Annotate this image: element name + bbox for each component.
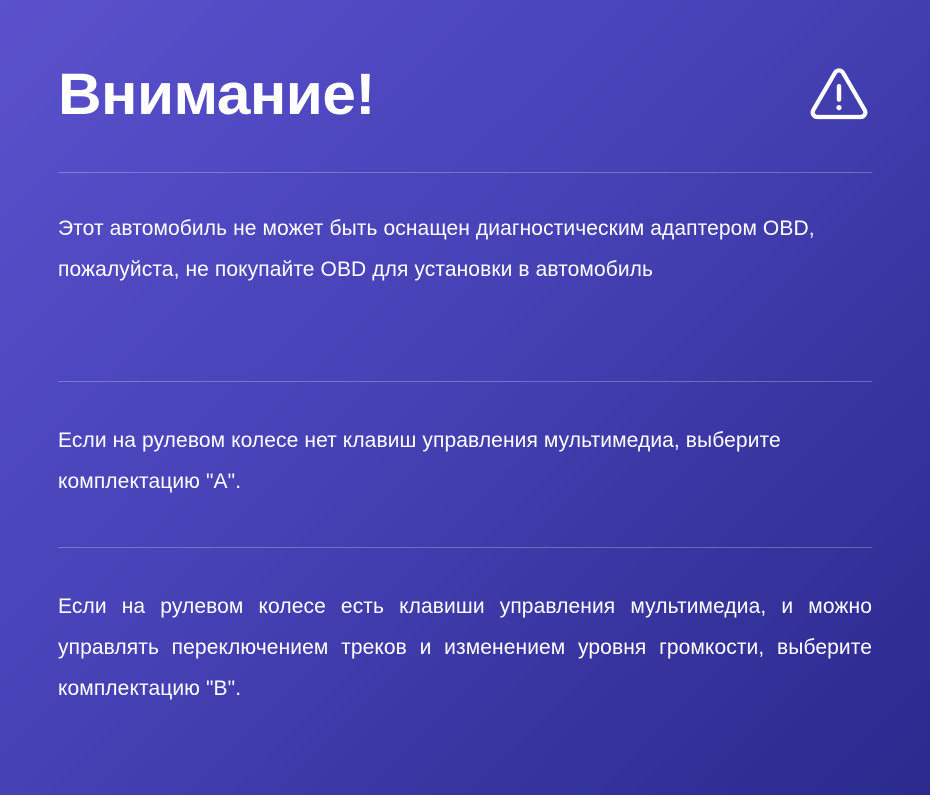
warning-triangle-icon — [808, 64, 870, 126]
notice-text-variant-a: Если на рулевом колесе нет клавиш управл… — [58, 420, 872, 502]
notice-header: Внимание! — [58, 56, 872, 134]
divider-bottom — [58, 547, 872, 548]
divider-middle — [58, 381, 872, 382]
notice-text-obd: Этот автомобиль не может быть оснащен ди… — [58, 208, 872, 290]
page-title: Внимание! — [58, 66, 375, 124]
warning-notice-card: Внимание! Этот автомобиль не может быть … — [0, 0, 930, 795]
notice-content: Внимание! Этот автомобиль не может быть … — [58, 0, 872, 795]
notice-text-variant-b: Если на рулевом колесе есть клавиши упра… — [58, 586, 872, 709]
divider-top — [58, 172, 872, 173]
